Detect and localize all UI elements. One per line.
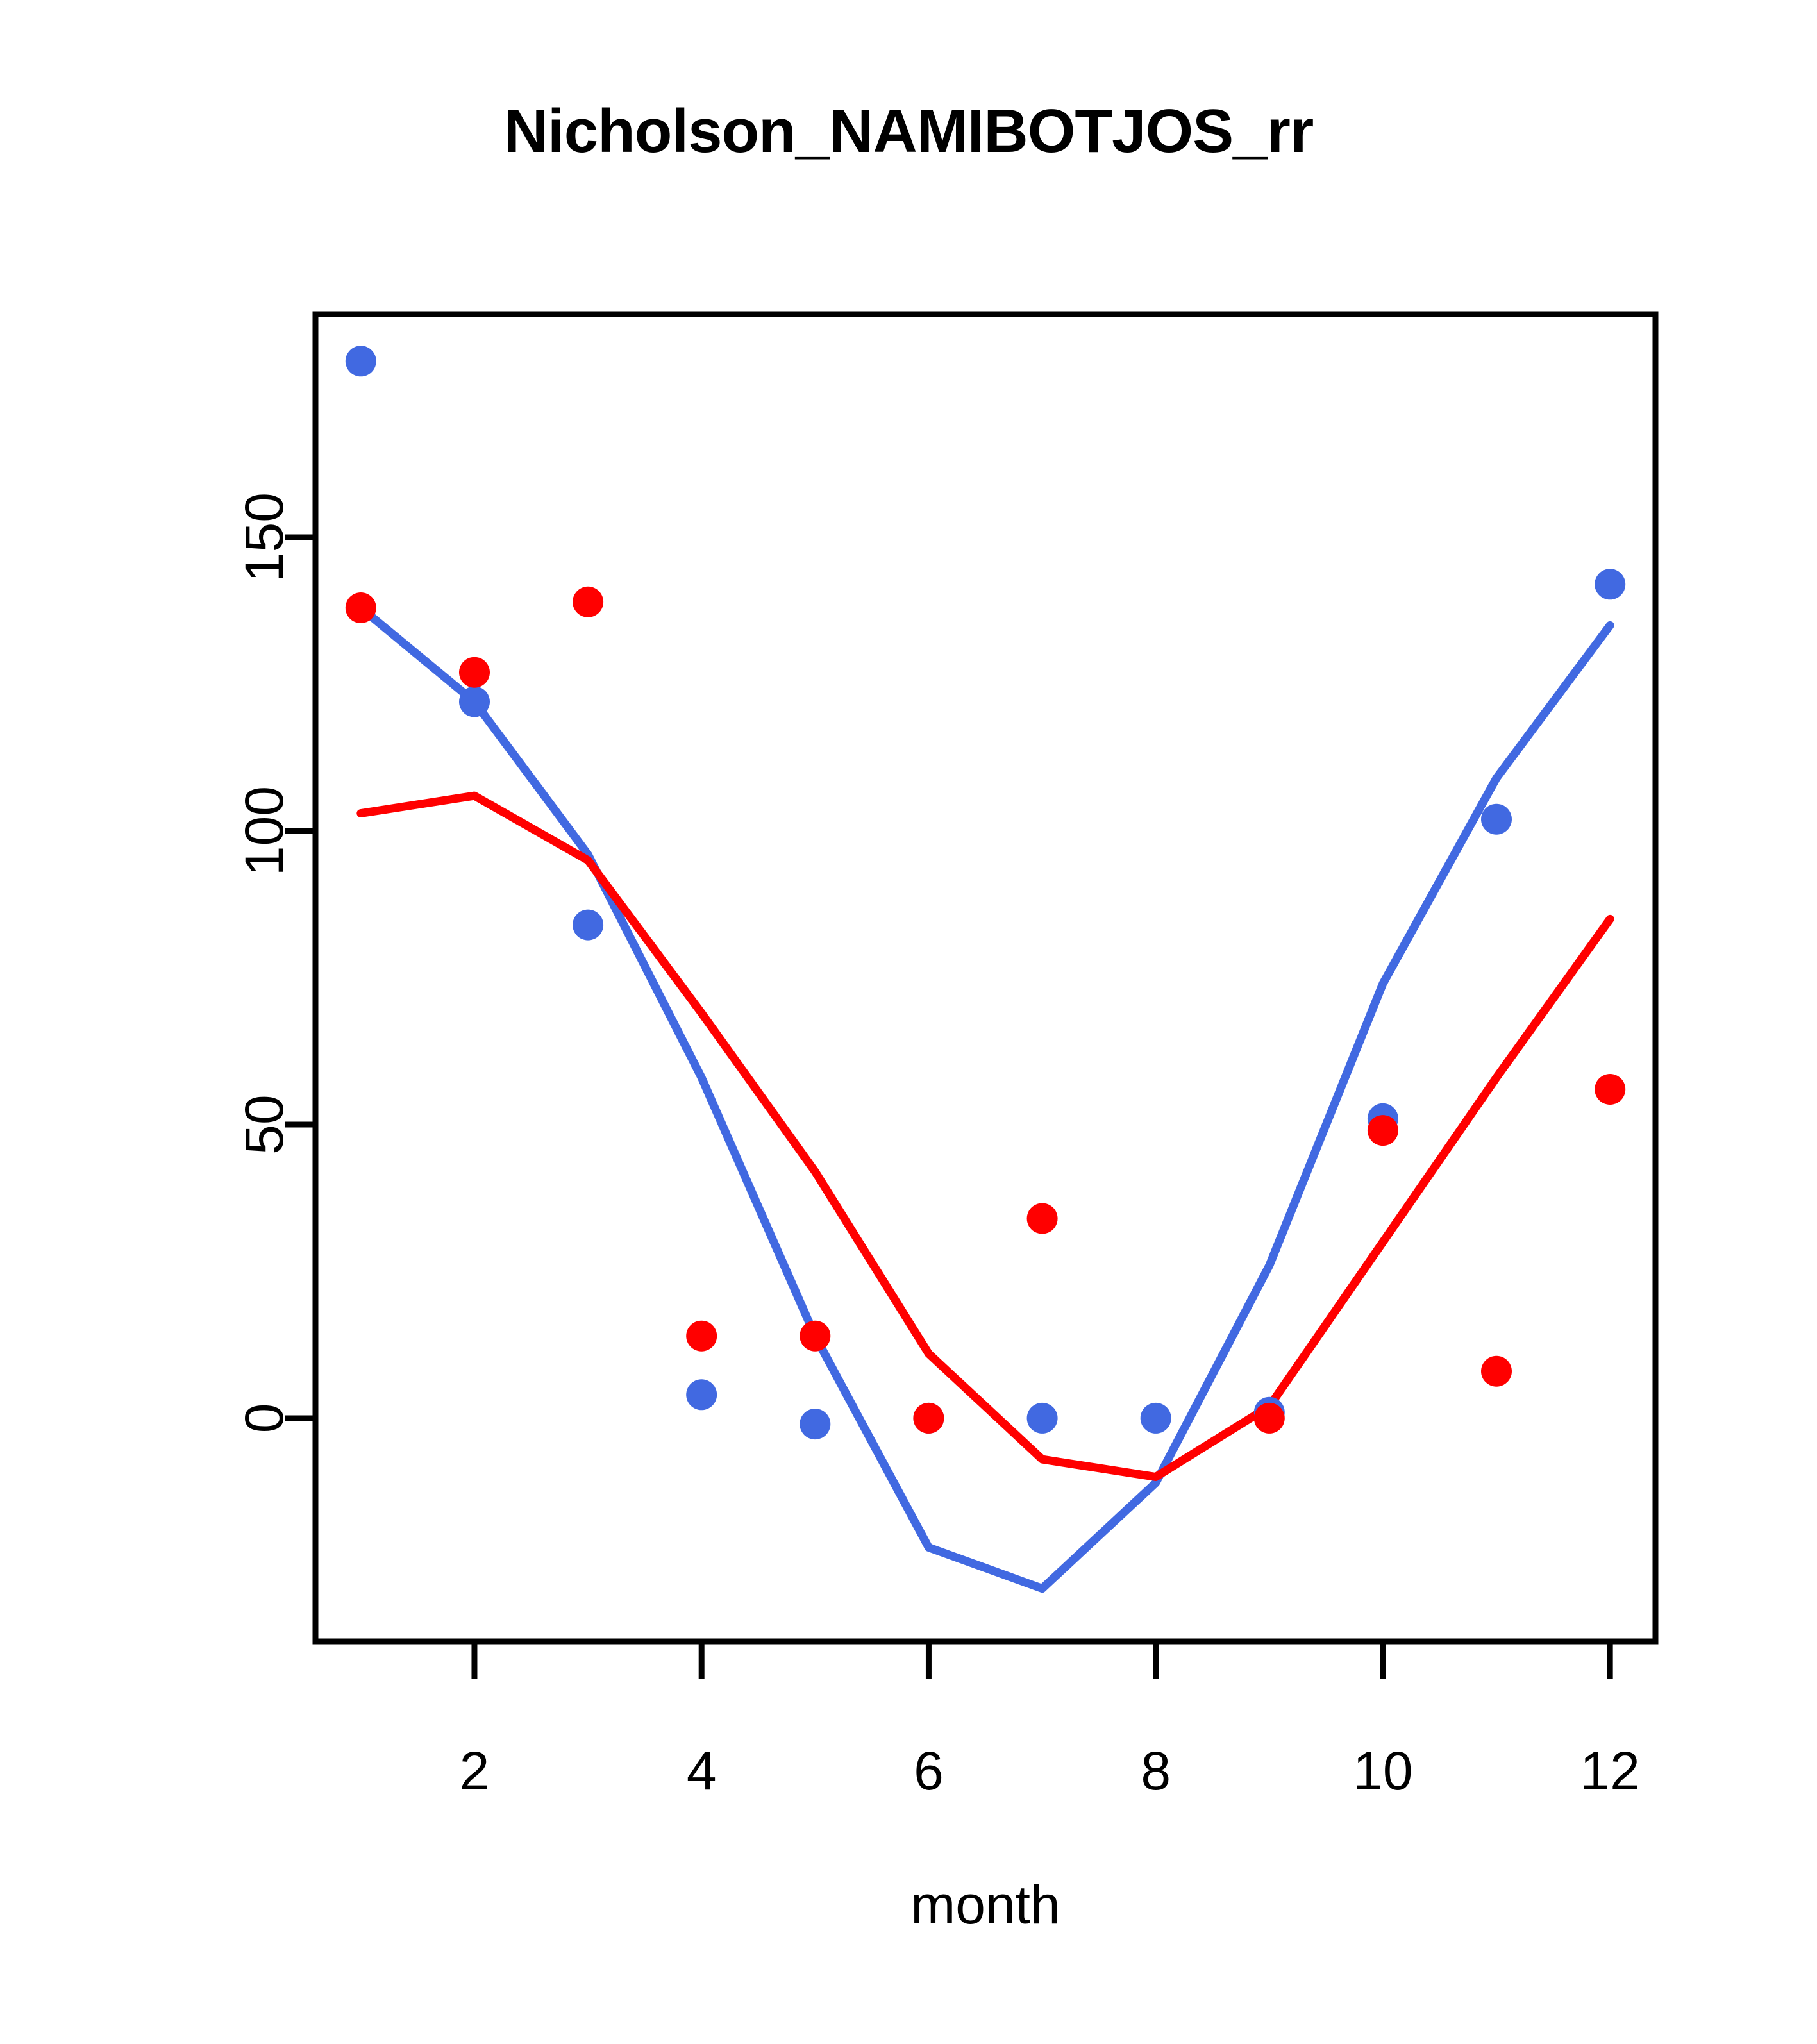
data-point-blue-points [346,346,376,376]
data-point-red-points [1254,1403,1285,1434]
data-point-red-points [459,657,490,688]
data-point-blue-points [1481,804,1512,835]
data-point-blue-points [800,1409,830,1439]
data-point-blue-points [1027,1403,1058,1434]
x-axis-title: month [910,1875,1060,1935]
x-axis-tick-label: 6 [914,1741,944,1801]
y-axis-tick-label: 150 [234,492,294,582]
data-point-red-points [1027,1203,1058,1234]
x-axis-tick-label: 12 [1580,1741,1639,1801]
data-point-red-points [1368,1115,1398,1146]
x-axis-tick-label: 2 [460,1741,490,1801]
data-point-red-points [800,1321,830,1352]
chart-page: Nicholson_NAMIBOTJOS_rr 050100150 246810… [0,0,1817,2044]
data-point-red-points [573,587,603,617]
x-axis-tick-label: 8 [1141,1741,1171,1801]
data-point-blue-points [459,687,490,717]
x-axis-tick-label: 4 [687,1741,717,1801]
plot-frame [315,314,1655,1641]
data-point-red-points [346,592,376,623]
data-point-red-points [686,1321,717,1352]
series-lines [361,608,1610,1589]
chart-canvas: 050100150 24681012 month [0,0,1817,2044]
y-axis-tick-label: 0 [234,1403,294,1434]
data-point-red-points [1595,1074,1625,1105]
y-axis-tick-label: 100 [234,786,294,876]
data-point-blue-points [573,910,603,941]
data-point-blue-points [686,1379,717,1410]
series-line-blue-line [361,608,1610,1589]
data-point-red-points [1481,1356,1512,1387]
data-point-blue-points [1141,1403,1171,1434]
x-axis: 24681012 [460,1641,1640,1801]
y-axis: 050100150 [234,492,315,1433]
data-point-blue-points [1595,569,1625,599]
y-axis-tick-label: 50 [234,1094,294,1154]
series-line-red-line [361,796,1610,1477]
data-point-red-points [913,1403,944,1434]
x-axis-tick-label: 10 [1353,1741,1412,1801]
